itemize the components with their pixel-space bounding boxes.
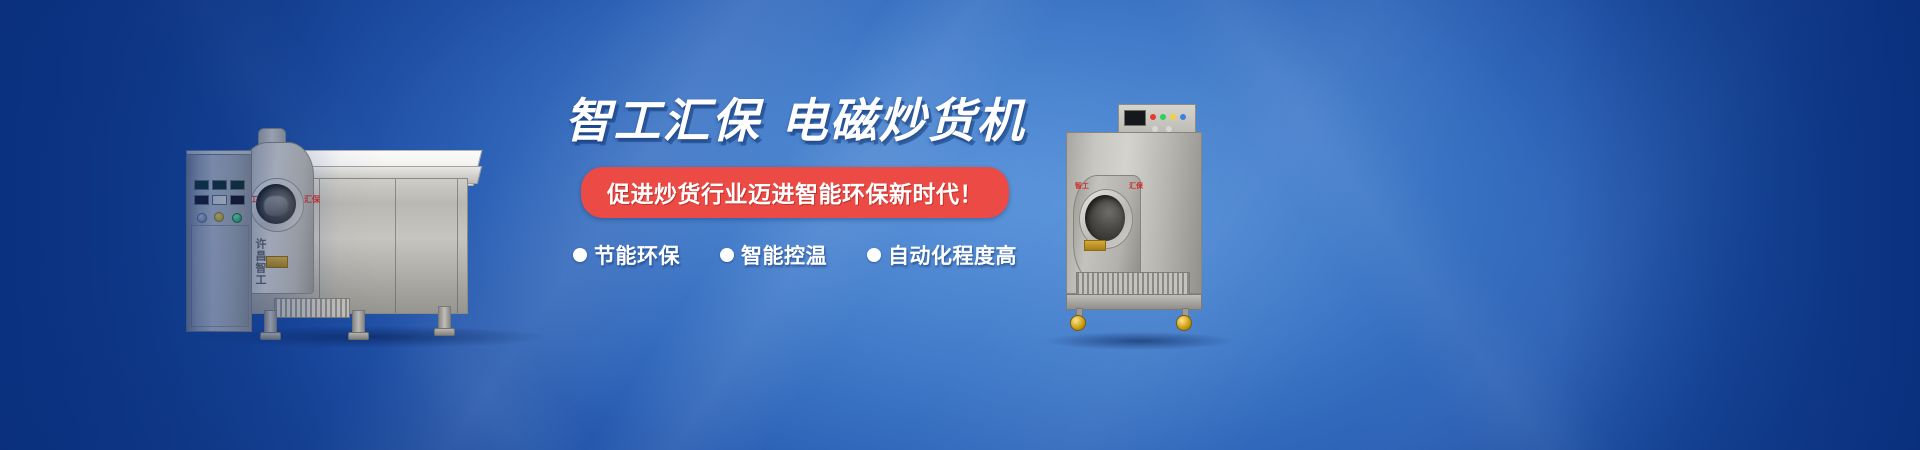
machine-foot [434,328,455,336]
title-part-2: 电磁炒货机 [781,94,1026,147]
caster-wheel [1176,315,1192,331]
bullet-dot-icon [867,248,881,262]
digital-readout-3 [230,195,245,205]
meter-display-2 [212,180,227,190]
meter-display-3 [230,180,245,190]
machine-foot [260,332,281,340]
feature-label: 自动化程度高 [888,240,1017,270]
bullet-dot-icon [720,248,734,262]
feature-label: 节能环保 [594,240,680,270]
ventilation-grille [274,298,350,318]
bullet-dot-icon [573,248,587,262]
nameplate [1084,240,1106,251]
feature-item-2: 智能控温 [720,240,827,270]
product-image-large-roaster: 智工 汇保 许昌智工 [186,110,554,342]
caster-wheel [1070,315,1086,331]
banner-title: 智工汇保电磁炒货机 [560,96,1030,145]
machine-foot [348,332,369,340]
start-button[interactable] [232,213,242,223]
tagline-text: 促进炒货行业迈进智能环保新时代！ [607,181,983,207]
indicator-led-blue [1180,114,1186,120]
indicator-led-green [1160,114,1166,120]
selector-switch[interactable] [197,213,207,223]
right-edge-shade [1560,0,1920,450]
feature-list: 节能环保 智能控温 自动化程度高 [560,240,1030,270]
cabinet-vertical-text: 许昌智工 [252,238,266,286]
digital-readout-1 [194,195,209,205]
drum-interior-blade [264,196,288,216]
panel-display [1124,110,1146,126]
promo-banner: 智工 汇保 许昌智工 智工汇保电磁炒货机 促进炒货行业迈进智能环保新 [0,0,1920,450]
brand-mark-right: 汇保 [1129,181,1143,191]
light-streak [1248,0,1920,450]
brand-mark-right: 汇保 [304,194,320,205]
emergency-stop-knob[interactable] [214,212,224,222]
feature-item-3: 自动化程度高 [867,240,1017,270]
feature-item-1: 节能环保 [573,240,680,270]
drum-opening [1085,195,1125,241]
machine-shadow [1046,332,1232,350]
brand-mark-left: 智工 [1075,181,1089,191]
meter-display-1 [194,180,209,190]
tagline-ribbon: 促进炒货行业迈进智能环保新时代！ [581,167,1009,218]
indicator-led-yellow [1170,114,1176,120]
machine-body: 智工 汇保 [1066,132,1202,294]
nameplate [266,256,288,268]
control-cabinet [186,154,252,332]
title-part-1: 智工汇保 [565,94,761,147]
product-image-compact-roaster: 智工 汇保 [1040,104,1236,350]
indicator-led-red [1150,114,1156,120]
panel-seam [457,179,458,313]
banner-content: 智工汇保电磁炒货机 促进炒货行业迈进智能环保新时代！ 节能环保 智能控温 自动化… [560,96,1030,270]
panel-seam [395,179,396,313]
digital-readout-2 [212,195,227,205]
cabinet-door [191,225,249,327]
feature-label: 智能控温 [741,240,827,270]
